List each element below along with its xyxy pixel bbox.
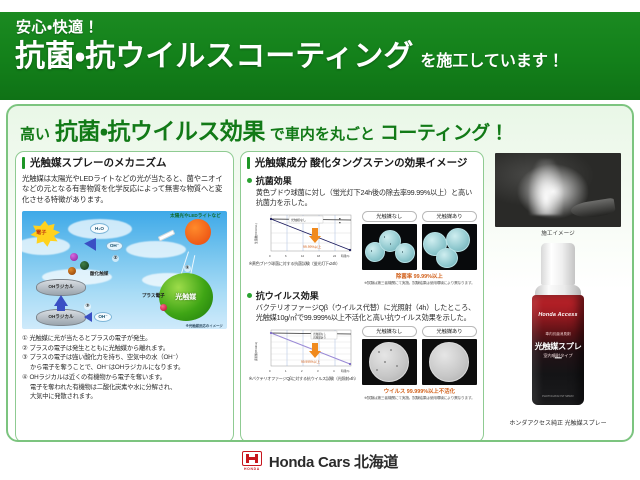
photocatalyst-sphere: 光触媒 bbox=[159, 273, 213, 321]
antiviral-body: バクテリオファージQβ（ウイルス代替）に光照射（4h）したところ、光触媒10g/… bbox=[247, 303, 477, 323]
virus-plaque-dish bbox=[369, 342, 409, 382]
spray-nozzle bbox=[570, 198, 616, 221]
plaque-speck bbox=[390, 349, 392, 351]
step-text: 大気中に発散されます。 bbox=[22, 392, 227, 402]
antibacterial-heading: 抗菌効果 bbox=[256, 174, 292, 187]
subtitle-pre: 高い bbox=[20, 123, 50, 144]
efficacy-panel-title-row: 光触媒成分 酸化タングステンの効果イメージ bbox=[247, 157, 477, 170]
antiviral-heading: 抗ウイルス効果 bbox=[256, 289, 319, 302]
step-item: ③ プラスの電子は強い酸化力を持ち、空気中の水（OH⁻） bbox=[22, 353, 227, 363]
colony-speck bbox=[371, 250, 373, 252]
bottle-fine-print: PHOTOCATALYST SPRAY bbox=[532, 394, 584, 398]
antibacterial-dish-caption: 除菌率 99.99%以上 bbox=[362, 272, 477, 280]
step-marker-3: ③ bbox=[84, 303, 91, 310]
bottle-cap bbox=[541, 243, 575, 285]
petri-dish-with bbox=[422, 224, 477, 270]
svg-text:生菌数(CFU/mL): 生菌数(CFU/mL) bbox=[254, 223, 258, 244]
spray-application-photo bbox=[495, 153, 621, 227]
antibacterial-evidence: 光触媒なし ■ ■ 99.99%以上 生菌数(CFU/mL) 0 6 12 18… bbox=[247, 211, 477, 286]
colony-speck bbox=[384, 236, 386, 238]
antiviral-chart: 光触媒なし 光触媒あり 99.999%以上 感染価(PFU/mL) 0 1 2 … bbox=[249, 326, 357, 401]
dish-label-with: 光触媒あり bbox=[422, 326, 477, 337]
cloud-shape bbox=[126, 241, 186, 258]
plaque-speck bbox=[396, 365, 398, 367]
banner-kicker: 安心・快適！ bbox=[14, 20, 626, 37]
bottle-subtitle-bottom: 室内噴射タイプ bbox=[532, 353, 584, 359]
step-item: ② プラスの電子は発生とともに光触媒から離れます。 bbox=[22, 344, 227, 354]
step-number: ① bbox=[22, 334, 27, 344]
title-accent-bar bbox=[247, 157, 250, 169]
subtitle-emphasis: 抗菌・抗ウイルス効果 bbox=[55, 112, 265, 146]
mechanism-steps: ① 光触媒に光が当たるとプラスの電子が発生。 ② プラスの電子は発生とともに光触… bbox=[22, 334, 227, 402]
petri-dish-without bbox=[362, 339, 417, 385]
step-text: プラスの電子は発生とともに光触媒から離れます。 bbox=[29, 344, 226, 354]
step-text: から電子を奪うことで、OH⁻はOHラジカルになります。 bbox=[22, 363, 227, 373]
dish-label-without: 光触媒なし bbox=[362, 326, 417, 337]
svg-text:99.999%以上: 99.999%以上 bbox=[301, 359, 321, 364]
svg-text:0: 0 bbox=[269, 369, 271, 373]
banner-headline-row: 抗菌・抗ウイルスコーティング を施工しています！ bbox=[14, 41, 626, 73]
svg-text:2: 2 bbox=[301, 369, 303, 373]
step-number: ④ bbox=[22, 373, 27, 383]
antiviral-dishes: 光触媒なし 光触媒あり bbox=[362, 326, 477, 401]
svg-text:光触媒あり: 光触媒あり bbox=[313, 335, 326, 339]
honda-h-bridge bbox=[246, 457, 258, 460]
dealer-name: Honda Cars 北海道 bbox=[269, 451, 398, 472]
banner-headline-tail: を施工しています！ bbox=[420, 47, 564, 71]
bottle-brand: Honda Access bbox=[532, 312, 584, 318]
dish-label-without: 光触媒なし bbox=[362, 211, 417, 222]
dish-image-row bbox=[362, 224, 477, 270]
bacteria-colony bbox=[436, 248, 458, 268]
svg-text:光触媒なし: 光触媒なし bbox=[291, 217, 306, 222]
svg-text:1: 1 bbox=[285, 369, 287, 373]
svg-text:感染価(PFU/mL): 感染価(PFU/mL) bbox=[254, 342, 258, 361]
bullet-icon bbox=[247, 293, 252, 298]
bottle-product-title: 光触媒スプレー bbox=[532, 340, 584, 364]
plaque-speck bbox=[376, 369, 378, 371]
header-banner: 安心・快適！ 抗菌・抗ウイルスコーティング を施工しています！ bbox=[0, 12, 640, 100]
svg-text:6: 6 bbox=[285, 254, 287, 258]
antibacterial-chart-svg: 光触媒なし ■ ■ 99.99%以上 生菌数(CFU/mL) 0 6 12 18… bbox=[249, 211, 357, 261]
step-text: プラスの電子は強い酸化力を持ち、空気中の水（OH⁻） bbox=[29, 353, 226, 363]
antiviral-dish-caption: ウイルス 99.999%以上不活化 bbox=[362, 387, 477, 395]
petri-dish-without bbox=[362, 224, 417, 270]
oh-bubble: OH⁻ bbox=[106, 241, 123, 251]
leftward-arrow bbox=[84, 312, 92, 322]
antibacterial-chart: 光触媒なし ■ ■ 99.99%以上 生菌数(CFU/mL) 0 6 12 18… bbox=[249, 211, 357, 286]
h2o-bubble: H₂O bbox=[90, 223, 109, 234]
product-bottle-area: Honda Access 車内抗菌消臭剤 光触媒スプレー 室内噴射タイプ PHO… bbox=[490, 239, 626, 425]
svg-text:時間(h): 時間(h) bbox=[341, 369, 349, 373]
advertisement-page: 安心・快適！ 抗菌・抗ウイルスコーティング を施工しています！ 高い 抗菌・抗ウ… bbox=[0, 0, 640, 480]
dish-label-with: 光触媒あり bbox=[422, 211, 477, 222]
columns-container: 光触媒スプレーのメカニズム 光触媒は太陽光やLEDライトなどの光が当たると、菌や… bbox=[8, 146, 632, 442]
dish-image-row bbox=[362, 339, 477, 385]
svg-text:3: 3 bbox=[317, 369, 319, 373]
antiviral-chart-svg: 光触媒なし 光触媒あり 99.999%以上 感染価(PFU/mL) 0 1 2 … bbox=[249, 326, 357, 376]
electron-dot bbox=[68, 267, 76, 275]
upward-arrow bbox=[54, 295, 68, 306]
step-number: ② bbox=[22, 344, 27, 354]
bottle-body: Honda Access 車内抗菌消臭剤 光触媒スプレー 室内噴射タイプ PHO… bbox=[532, 295, 584, 405]
oh-radical-top: OHラジカル bbox=[36, 279, 86, 296]
antiviral-evidence: 光触媒なし 光触媒あり 99.999%以上 感染価(PFU/mL) 0 1 2 … bbox=[247, 326, 477, 401]
svg-text:光触媒なし: 光触媒なし bbox=[313, 332, 326, 336]
step-text: OHラジカルは近くの有機物から電子を奪います。 bbox=[29, 373, 226, 383]
svg-text:24: 24 bbox=[333, 254, 337, 258]
plus-electron-dot bbox=[160, 304, 167, 311]
product-column: 施工イメージ Honda Access 車内抗菌消臭剤 光触媒スプレー 室内噴射… bbox=[490, 151, 626, 442]
subtitle-mid: で車内を丸ごと bbox=[270, 123, 375, 144]
antiviral-dish-fine: ※試験は第三者機関にて実施。試験結果は使用環境により異なります。 bbox=[362, 396, 477, 401]
antibacterial-dishes: 光触媒なし 光触媒あり bbox=[362, 211, 477, 286]
title-accent-bar bbox=[22, 157, 25, 169]
mechanism-panel-title-row: 光触媒スプレーのメカニズム bbox=[22, 157, 227, 170]
diagram-footnote: ※光触媒反応のイメージ bbox=[186, 323, 223, 328]
svg-text:99.99%以上: 99.99%以上 bbox=[303, 244, 322, 249]
banner-headline: 抗菌・抗ウイルスコーティング bbox=[15, 41, 413, 73]
plus-electron-label: プラス電子 bbox=[142, 293, 165, 299]
honda-logo: HONDA bbox=[242, 451, 262, 471]
dish-label-row: 光触媒なし 光触媒あり bbox=[362, 211, 477, 222]
footer-bar: HONDA Honda Cars 北海道 bbox=[0, 446, 640, 476]
bullet-icon bbox=[247, 178, 252, 183]
petri-dish-with bbox=[422, 339, 477, 385]
honda-wordmark: HONDA bbox=[244, 467, 260, 471]
step-number: ③ bbox=[22, 353, 27, 363]
spray-photo-caption: 施工イメージ bbox=[490, 229, 626, 237]
antibacterial-body: 黄色ブドウ球菌に対し（蛍光灯下24h後の除去率99.99%以上）と高い抗菌力を示… bbox=[247, 188, 477, 208]
svg-text:0: 0 bbox=[269, 254, 271, 258]
oh-bubble-2: OH⁻ bbox=[94, 312, 112, 322]
antibacterial-chart-note: ※黄色ブドウ球菌に対する抗菌試験（蛍光灯下・24h） bbox=[249, 262, 357, 267]
dish-label-row: 光触媒なし 光触媒あり bbox=[362, 326, 477, 337]
sun-icon bbox=[185, 219, 211, 245]
electron-label: 電子 bbox=[36, 229, 46, 236]
step-item: ① 光触媒に光が当たるとプラスの電子が発生。 bbox=[22, 334, 227, 344]
svg-text:4: 4 bbox=[333, 369, 335, 373]
mechanism-panel: 光触媒スプレーのメカニズム 光触媒は太陽光やLEDライトなどの光が当たると、菌や… bbox=[15, 151, 234, 442]
subtitle-row: 高い 抗菌・抗ウイルス効果 で車内を丸ごと コーティング！ bbox=[8, 106, 632, 146]
product-bottle: Honda Access 車内抗菌消臭剤 光触媒スプレー 室内噴射タイプ PHO… bbox=[532, 243, 584, 405]
step-text: 光触媒に光が当たるとプラスの電子が発生。 bbox=[29, 334, 226, 344]
plaque-speck bbox=[378, 351, 380, 353]
step-marker-1: ① bbox=[184, 265, 191, 272]
bacteria-colony bbox=[395, 243, 415, 263]
antiviral-heading-row: 抗ウイルス効果 bbox=[247, 289, 477, 302]
svg-text:18: 18 bbox=[317, 254, 321, 258]
step-marker-2: ② bbox=[112, 255, 119, 262]
electron-dot bbox=[70, 253, 78, 261]
electron-dot bbox=[80, 261, 89, 270]
plaque-speck bbox=[384, 361, 386, 363]
antibacterial-dish-fine: ※試験は第三者機関にて実施。試験結果は使用環境により異なります。 bbox=[362, 281, 477, 286]
oh-radical-bottom: OHラジカル bbox=[36, 309, 86, 326]
content-card: 高い 抗菌・抗ウイルス効果 で車内を丸ごと コーティング！ 光触媒スプレーのメカ… bbox=[6, 104, 634, 442]
honda-h-mark-icon bbox=[242, 451, 262, 466]
colony-speck bbox=[390, 243, 392, 245]
step-text: 電子を奪われた有機物は二酸化炭素や水に分解され、 bbox=[22, 383, 227, 393]
antiviral-chart-note: ※バクテリオファージQβに対する抗ウイルス試験（光照射・4h） bbox=[249, 377, 357, 382]
step-item: ④ OHラジカルは近くの有機物から電子を奪います。 bbox=[22, 373, 227, 383]
efficacy-panel: 光触媒成分 酸化タングステンの効果イメージ 抗菌効果 黄色ブドウ球菌に対し（蛍光… bbox=[240, 151, 484, 442]
efficacy-panel-title: 光触媒成分 酸化タングステンの効果イメージ bbox=[255, 157, 468, 170]
svg-text:時間(h): 時間(h) bbox=[341, 254, 349, 258]
bottle-shoulder bbox=[535, 285, 581, 295]
colony-speck bbox=[402, 251, 404, 253]
mechanism-body-text: 光触媒は太陽光やLEDライトなどの光が当たると、菌やニオイなどの元となる有害物質… bbox=[22, 174, 227, 206]
light-source-label: 太陽光やLEDライトなど bbox=[170, 213, 221, 219]
led-tube-icon bbox=[157, 229, 174, 241]
bottle-subtitle-top: 車内抗菌消臭剤 bbox=[532, 332, 584, 337]
subtitle-post: コーティング！ bbox=[380, 118, 508, 145]
product-caption: ホンダアクセス純正 光触媒スプレー bbox=[490, 418, 626, 427]
photocatalyst-diagram: 太陽光やLEDライトなど 電子 H₂O OH⁻ 酸化触媒 ② ① bbox=[22, 211, 227, 329]
photocatalyst-label: 光触媒 bbox=[175, 292, 196, 302]
oxidation-label: 酸化触媒 bbox=[90, 271, 108, 277]
svg-text:12: 12 bbox=[301, 254, 305, 258]
antibacterial-heading-row: 抗菌効果 bbox=[247, 174, 477, 187]
mechanism-panel-title: 光触媒スプレーのメカニズム bbox=[30, 157, 167, 170]
virus-plaque-dish bbox=[429, 342, 469, 382]
spray-mist bbox=[529, 159, 563, 215]
